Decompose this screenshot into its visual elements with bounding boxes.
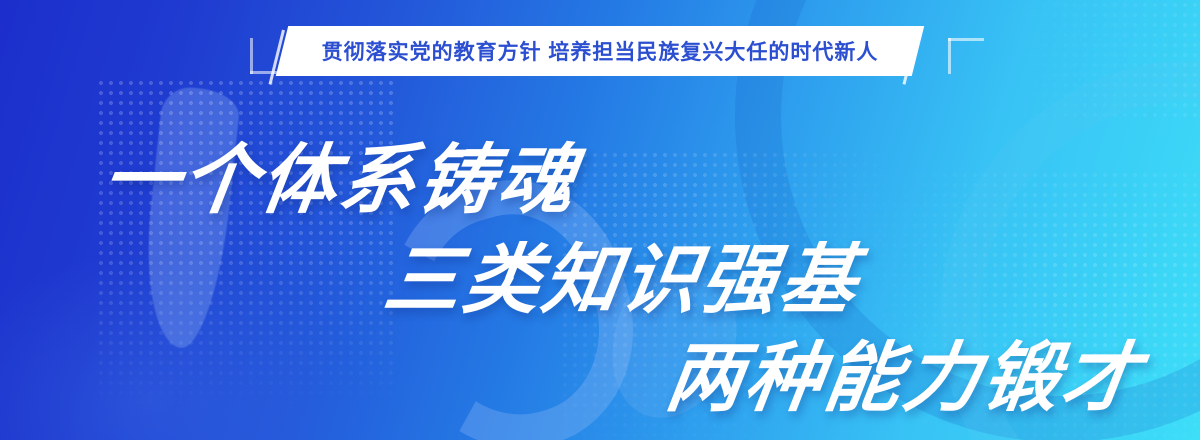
headline-line-2: 三类知识强基 bbox=[378, 218, 867, 328]
headline-line-3: 两种能力锻才 bbox=[660, 316, 1149, 426]
headline-group: 一个体系铸魂 三类知识强基 两种能力锻才 bbox=[0, 106, 1200, 426]
top-ribbon: 贯彻落实党的教育方针 培养担当民族复兴大任的时代新人 bbox=[0, 26, 1200, 76]
education-banner: 贯彻落实党的教育方针 培养担当民族复兴大任的时代新人 一个体系铸魂 三类知识强基… bbox=[0, 0, 1200, 440]
headline-line-1: 一个体系铸魂 bbox=[96, 118, 585, 228]
bracket-right-icon bbox=[900, 34, 966, 80]
top-ribbon-text: 贯彻落实党的教育方针 培养担当民族复兴大任的时代新人 bbox=[282, 26, 918, 76]
